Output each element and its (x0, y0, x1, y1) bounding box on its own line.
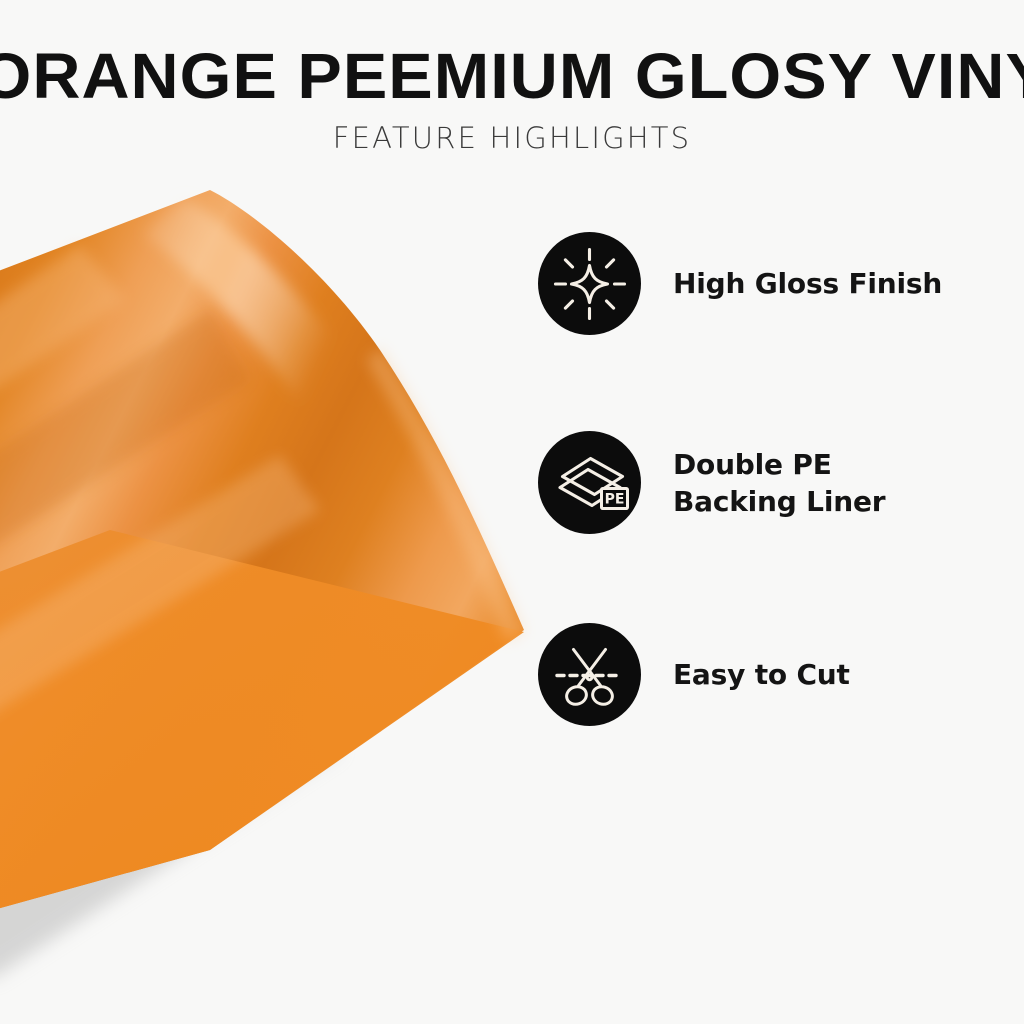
sparkle-shine-icon (538, 232, 641, 335)
vinyl-sheet-image (0, 150, 560, 980)
pe-tag-label: PE (605, 492, 625, 508)
page-title: ORANGE PEEMIUM GLOSY VINYL (0, 44, 1024, 108)
feature-label: High Gloss Finish (673, 265, 942, 302)
feature-item-double-pe-liner[interactable]: PE Double PE Backing Liner (538, 431, 885, 534)
feature-item-high-gloss[interactable]: High Gloss Finish (538, 232, 942, 335)
stacked-layers-icon: PE (538, 431, 641, 534)
vinyl-sheet-svg (0, 150, 560, 980)
feature-item-easy-to-cut[interactable]: Easy to Cut (538, 623, 850, 726)
infographic-canvas: ORANGE PEEMIUM GLOSY VINYL FEATURE HIGHL… (0, 0, 1024, 1024)
feature-label: Easy to Cut (673, 656, 850, 693)
scissors-cut-icon (538, 623, 641, 726)
feature-badge (538, 232, 641, 335)
feature-badge (538, 623, 641, 726)
feature-label: Double PE Backing Liner (673, 446, 885, 520)
feature-badge: PE (538, 431, 641, 534)
